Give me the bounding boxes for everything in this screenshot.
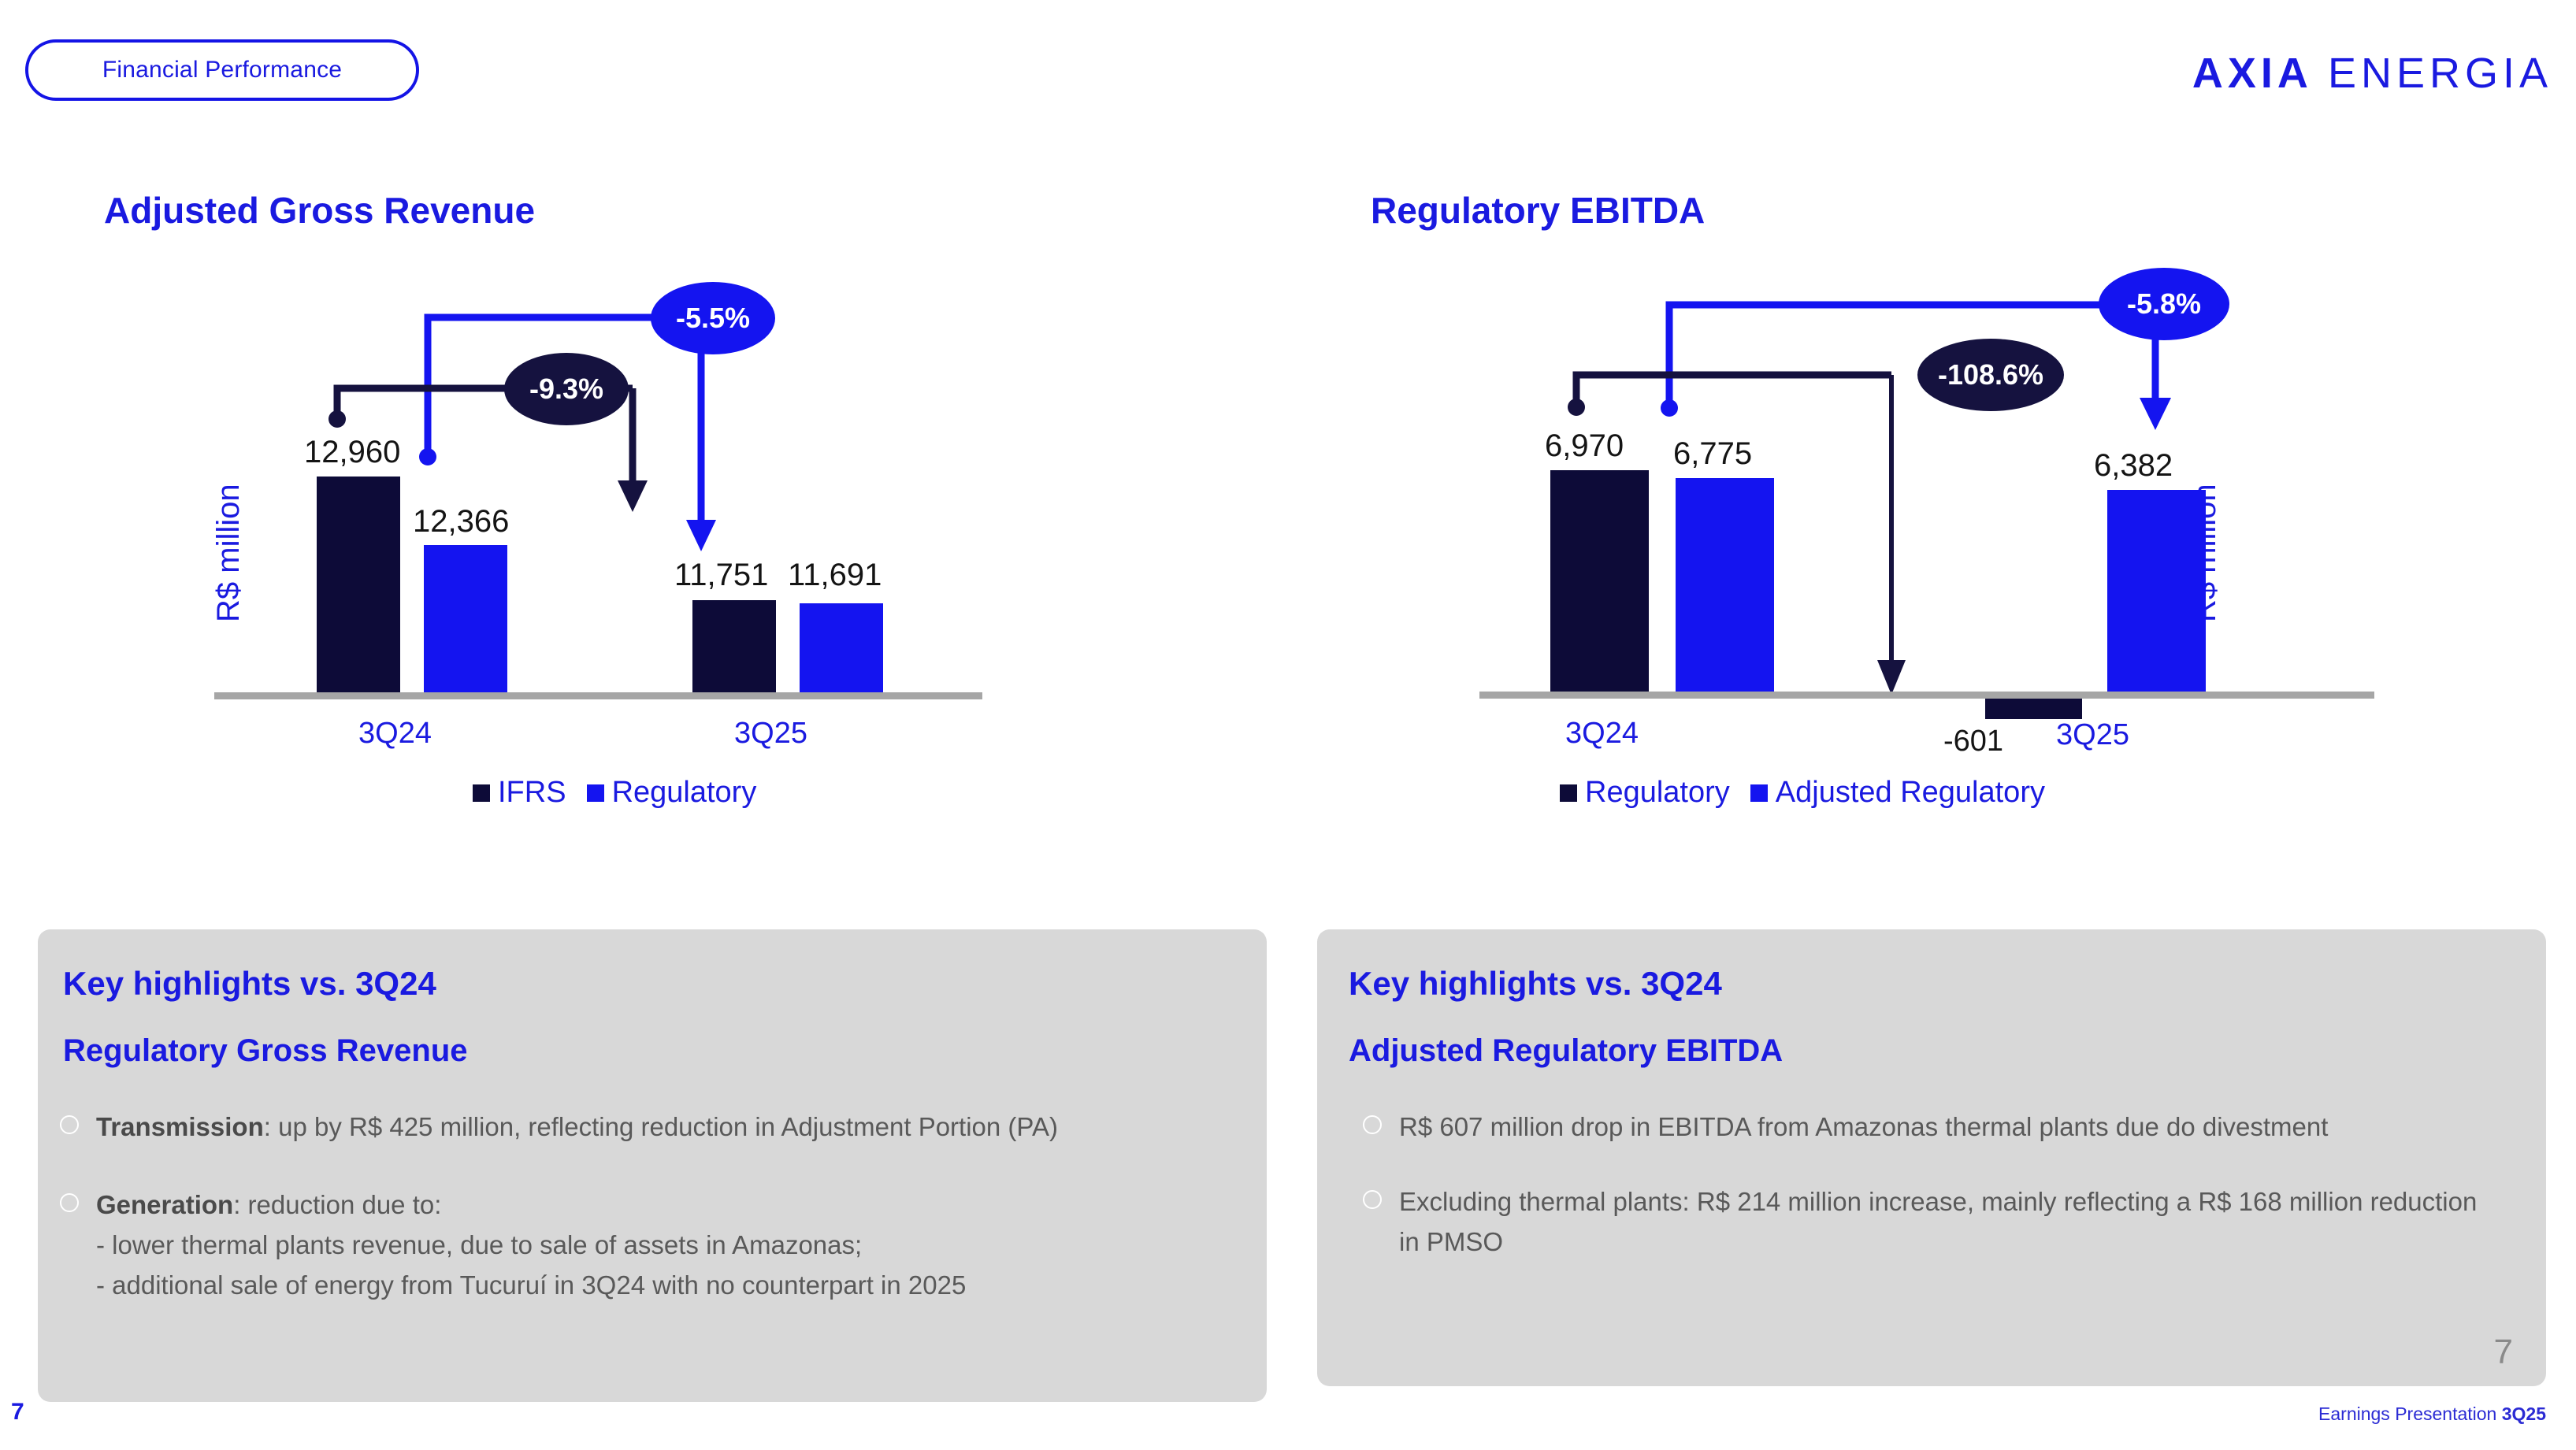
list-item: R$ 607 million drop in EBITDA from Amazo… (1363, 1107, 2481, 1147)
left-highlights-bullet-list: Transmission: up by R$ 425 million, refl… (60, 1107, 1226, 1333)
left-chart-annotation-dark: -9.3% (504, 353, 629, 425)
right-chart-value-regulatory-3q25: -601 (1943, 725, 2003, 758)
left-highlights-panel: Key highlights vs. 3Q24 Regulatory Gross… (38, 929, 1267, 1402)
left-chart-legend-label-regulatory: Regulatory (612, 776, 757, 810)
left-chart: R$ million -5.5% -9.3% 12,960 12,366 11,… (0, 0, 1288, 835)
right-chart-bar-adjusted-regulatory-3q25 (2107, 490, 2206, 695)
legend-swatch-icon (1560, 784, 1577, 802)
left-chart-legend-label-ifrs: IFRS (498, 776, 566, 810)
right-highlights-bullet-list: R$ 607 million drop in EBITDA from Amazo… (1363, 1107, 2481, 1289)
left-bullet-2-text: Generation: reduction due to: - lower th… (96, 1185, 966, 1305)
left-chart-value-ifrs-3q25: 11,751 (674, 558, 768, 593)
bullet-circle-icon (60, 1185, 79, 1305)
right-chart-legend: Regulatory Adjusted Regulatory (1560, 776, 2045, 810)
right-chart-annotation-dark: -108.6% (1917, 339, 2064, 411)
left-chart-annotation-connectors (0, 0, 1288, 835)
left-highlights-heading: Key highlights vs. 3Q24 (63, 965, 436, 1003)
right-chart-legend-item-regulatory[interactable]: Regulatory (1560, 776, 1730, 810)
footer-note: Earnings Presentation 3Q25 (2318, 1404, 2546, 1425)
footer-note-bold: 3Q25 (2502, 1404, 2546, 1424)
left-highlights-subheading: Regulatory Gross Revenue (63, 1033, 468, 1069)
right-chart-legend-label-adjusted-regulatory: Adjusted Regulatory (1776, 776, 2045, 810)
left-chart-value-regulatory-3q24: 12,366 (413, 504, 509, 540)
legend-swatch-icon (1750, 784, 1768, 802)
left-bullet-1-text: Transmission: up by R$ 425 million, refl… (96, 1107, 1058, 1147)
legend-swatch-icon (473, 784, 490, 802)
right-chart-bar-adjusted-regulatory-3q24 (1676, 478, 1774, 695)
left-chart-axis-line (214, 692, 982, 699)
right-chart-annotation-blue: -5.8% (2099, 268, 2229, 340)
footer-note-text: Earnings Presentation (2318, 1404, 2502, 1424)
left-chart-bar-regulatory-3q25 (800, 603, 883, 695)
right-bullet-2-text: Excluding thermal plants: R$ 214 million… (1399, 1181, 2481, 1262)
left-chart-legend: IFRS Regulatory (473, 776, 756, 810)
right-chart-legend-item-adjusted-regulatory[interactable]: Adjusted Regulatory (1750, 776, 2045, 810)
bullet-circle-icon (1363, 1181, 1382, 1262)
right-chart-category-3q25: 3Q25 (2056, 718, 2129, 752)
left-chart-value-ifrs-3q24: 12,960 (304, 435, 400, 470)
bullet-circle-icon (60, 1107, 79, 1147)
left-bullet-1-bold: Transmission (96, 1112, 264, 1141)
list-item: Excluding thermal plants: R$ 214 million… (1363, 1181, 2481, 1262)
left-chart-bar-ifrs-3q25 (692, 600, 776, 695)
left-chart-bar-regulatory-3q24 (424, 545, 507, 695)
legend-swatch-icon (587, 784, 604, 802)
right-chart-axis-line (1479, 692, 2374, 699)
right-highlights-subheading: Adjusted Regulatory EBITDA (1349, 1033, 1783, 1069)
slide-page-number: 7 (11, 1399, 24, 1426)
right-chart-value-adjusted-regulatory-3q25: 6,382 (2094, 448, 2173, 484)
left-chart-annotation-blue: -5.5% (651, 282, 775, 354)
right-chart-annotation-connectors (1288, 0, 2576, 835)
left-chart-category-3q24: 3Q24 (358, 717, 432, 751)
list-item: Generation: reduction due to: - lower th… (60, 1185, 1226, 1305)
left-chart-legend-item-ifrs[interactable]: IFRS (473, 776, 566, 810)
list-item: Transmission: up by R$ 425 million, refl… (60, 1107, 1226, 1147)
right-highlights-panel: Key highlights vs. 3Q24 Adjusted Regulat… (1317, 929, 2546, 1386)
right-chart-category-3q24: 3Q24 (1565, 717, 1639, 751)
right-chart-bar-regulatory-3q25 (1985, 698, 2082, 719)
bullet-circle-icon (1363, 1107, 1382, 1147)
left-chart-legend-item-regulatory[interactable]: Regulatory (587, 776, 757, 810)
panel-page-number: 7 (2494, 1333, 2513, 1372)
right-chart-value-regulatory-3q24: 6,970 (1545, 428, 1624, 464)
left-chart-category-3q25: 3Q25 (734, 717, 807, 751)
right-chart-bar-regulatory-3q24 (1550, 470, 1649, 695)
left-bullet-2-bold: Generation (96, 1190, 233, 1219)
right-chart-value-adjusted-regulatory-3q24: 6,775 (1673, 436, 1752, 472)
right-highlights-heading: Key highlights vs. 3Q24 (1349, 965, 1722, 1003)
right-bullet-1-text: R$ 607 million drop in EBITDA from Amazo… (1399, 1107, 2328, 1147)
right-chart: R$ million -5.8% -108.6% 6,970 6,775 6,3… (1288, 0, 2576, 835)
left-bullet-1-rest: : up by R$ 425 million, reflecting reduc… (264, 1112, 1058, 1141)
right-chart-legend-label-regulatory: Regulatory (1585, 776, 1730, 810)
left-chart-bar-ifrs-3q24 (317, 477, 400, 695)
left-chart-value-regulatory-3q25: 11,691 (788, 558, 882, 593)
